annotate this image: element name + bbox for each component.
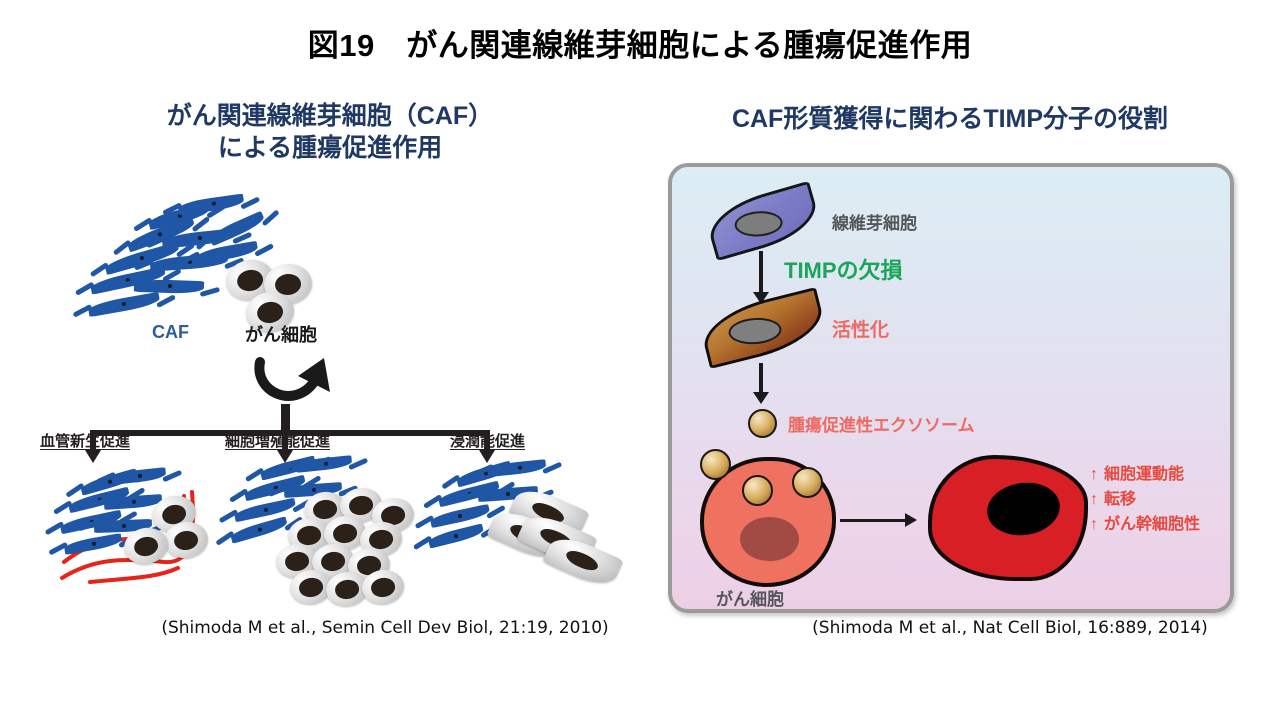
caf-cell (233, 498, 296, 523)
fibroblast-label: 線維芽細胞 (832, 209, 917, 234)
feedback-arrow-icon (248, 352, 338, 419)
activated-fibroblast-cell (697, 287, 828, 369)
exosome-particle (748, 409, 777, 438)
outcome-item: ↑がん幹細胞性 (1090, 513, 1200, 538)
left-panel-heading: がん関連線維芽細胞（CAF） による腫瘍促進作用 (40, 100, 620, 164)
exosome-particle (742, 475, 773, 506)
caf-cell (87, 292, 160, 317)
sub-diagram-invasion (428, 460, 628, 605)
page-title: 図19 がん関連線維芽細胞による腫瘍促進作用 (0, 20, 1280, 65)
arrow-cancer-to-invasive (840, 519, 906, 522)
cancer-cell-label: がん細胞 (716, 585, 784, 610)
left-panel-heading-line1: がん関連線維芽細胞（CAF） (40, 100, 620, 132)
invasive-cancer-cell (928, 455, 1088, 581)
up-arrow-icon: ↑ (1090, 488, 1104, 513)
outcome-item: ↑細胞運動能 (1090, 463, 1200, 488)
timp-loss-label: TIMPの欠損 (784, 253, 903, 285)
outcome-label-metastasis: 転移 (1104, 491, 1136, 508)
cancer-cell-label: がん細胞 (245, 321, 317, 347)
exosome-label: 腫瘍促進性エクソソーム (788, 411, 975, 436)
timp-caf-mechanism-panel: 線維芽細胞 TIMPの欠損 活性化 腫瘍促進性エクソソーム がん細胞 (668, 163, 1234, 613)
outcome-label-motility: 細胞運動能 (1104, 466, 1184, 483)
arrow-activated-to-exosome (759, 363, 763, 393)
caf-cell (134, 279, 204, 294)
outcome-item: ↑転移 (1090, 488, 1200, 513)
caf-label: CAF (152, 322, 189, 343)
caf-cell (490, 459, 547, 477)
fibroblast-cell (703, 181, 823, 261)
activated-fibroblast-nucleus (728, 317, 782, 347)
activation-label: 活性化 (832, 315, 889, 342)
sub-diagram-proliferation (230, 458, 420, 608)
invasive-cancer-nucleus (983, 478, 1062, 540)
fibroblast-nucleus (734, 210, 783, 238)
outcome-label-stemness: がん幹細胞性 (1104, 516, 1200, 533)
arrow-fibroblast-to-activated (759, 251, 763, 293)
exosome-particle (792, 467, 823, 498)
slide-canvas: 図19 がん関連線維芽細胞による腫瘍促進作用 がん関連線維芽細胞（CAF） によ… (0, 0, 1280, 720)
cancer-cell-nucleus (740, 517, 799, 561)
outcome-list: ↑細胞運動能 ↑転移 ↑がん幹細胞性 (1090, 463, 1200, 537)
left-panel-citation: (Shimoda M et al., Semin Cell Dev Biol, … (75, 618, 695, 638)
left-panel-heading-line2: による腫瘍促進作用 (40, 132, 620, 164)
up-arrow-icon: ↑ (1090, 463, 1104, 488)
caf-tumor-promotion-diagram: CAF がん細胞 血管新生促進 細胞増殖能促進 浸潤能促進 (30, 180, 650, 610)
exosome-particle (700, 449, 731, 480)
right-panel-heading: CAF形質獲得に関わるTIMP分子の役割 (650, 103, 1250, 135)
branch-label-angiogenesis: 血管新生促進 (40, 430, 130, 451)
up-arrow-icon: ↑ (1090, 513, 1104, 538)
sub-diagram-angiogenesis (60, 466, 235, 601)
right-panel-citation: (Shimoda M et al., Nat Cell Biol, 16:889… (700, 618, 1280, 638)
branch-label-invasion: 浸潤能促進 (450, 430, 525, 451)
branch-label-proliferation: 細胞増殖能促進 (225, 430, 330, 451)
